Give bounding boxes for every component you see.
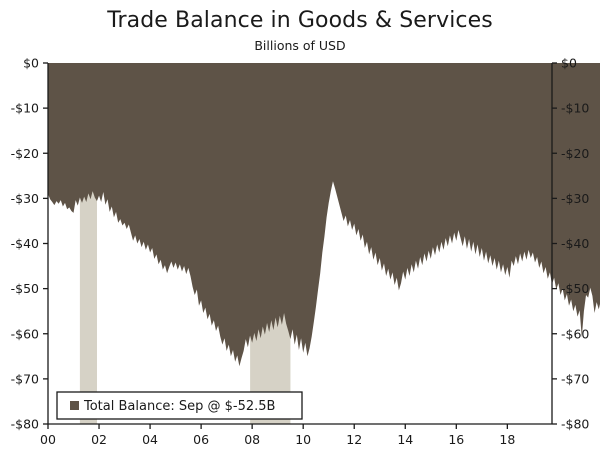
y-tick-label-left-4: -$40 — [11, 236, 39, 251]
x-tick-label-9: 18 — [499, 432, 515, 447]
y-tick-label-right-8: -$80 — [561, 417, 589, 432]
y-tick-label-right-6: -$60 — [561, 326, 589, 341]
x-tick-label-5: 10 — [295, 432, 311, 447]
y-tick-label-left-2: -$20 — [11, 146, 39, 161]
area-path-0 — [48, 63, 600, 366]
y-tick-label-left-3: -$30 — [11, 191, 39, 206]
legend-swatch-total-balance — [70, 401, 79, 410]
y-tick-label-left-1: -$10 — [11, 101, 39, 116]
trade-balance-area-chart: $0-$10-$20-$30-$40-$50-$60-$70-$80 $0-$1… — [0, 0, 600, 460]
y-tick-label-right-4: -$40 — [561, 236, 589, 251]
chart-container: Trade Balance in Goods & Services Billio… — [0, 0, 600, 460]
x-tick-label-1: 02 — [91, 432, 107, 447]
chart-legend: Total Balance: Sep @ $-52.5B — [57, 392, 302, 419]
total-balance-area-series — [48, 63, 600, 366]
legend-label-total-balance: Total Balance: Sep @ $-52.5B — [83, 399, 275, 414]
y-tick-label-right-2: -$20 — [561, 146, 589, 161]
y-tick-label-right-7: -$70 — [561, 371, 589, 386]
y-tick-label-left-5: -$50 — [11, 281, 39, 296]
x-tick-label-0: 00 — [40, 432, 56, 447]
y-tick-label-left-8: -$80 — [11, 417, 39, 432]
y-tick-label-left-6: -$60 — [11, 326, 39, 341]
x-tick-label-3: 06 — [193, 432, 209, 447]
y-tick-label-left-0: $0 — [23, 56, 39, 71]
x-axis: 00020406081012141618 — [40, 424, 552, 447]
y-axis-left: $0-$10-$20-$30-$40-$50-$60-$70-$80 — [11, 56, 48, 432]
x-tick-label-4: 08 — [244, 432, 260, 447]
x-tick-label-2: 04 — [142, 432, 158, 447]
y-tick-label-right-0: $0 — [561, 56, 577, 71]
y-tick-label-right-3: -$30 — [561, 191, 589, 206]
x-tick-label-8: 16 — [448, 432, 464, 447]
y-tick-label-right-1: -$10 — [561, 101, 589, 116]
x-tick-label-7: 14 — [397, 432, 413, 447]
y-tick-label-right-5: -$50 — [561, 281, 589, 296]
y-tick-label-left-7: -$70 — [11, 371, 39, 386]
x-tick-label-6: 12 — [346, 432, 362, 447]
